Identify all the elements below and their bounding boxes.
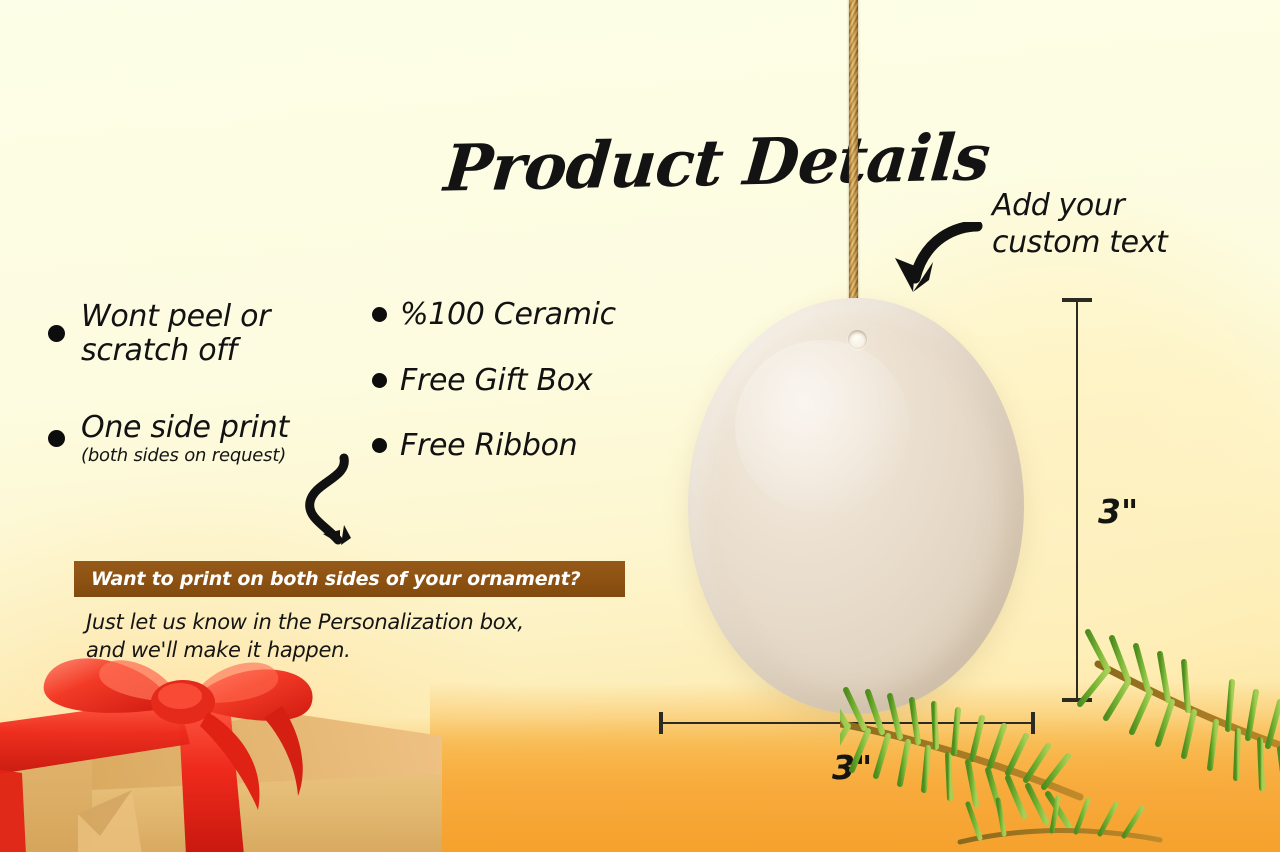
feature-label: Free Ribbon <box>400 429 577 463</box>
feature-sublabel: (both sides on request) <box>81 446 289 466</box>
feature-label: Free Gift Box <box>400 364 592 398</box>
list-item: One side print (both sides on request) <box>48 411 378 466</box>
bullet-dot-icon <box>372 307 387 322</box>
page-title: Product Details <box>441 120 992 206</box>
feature-label: Wont peel or scratch off <box>81 300 270 367</box>
list-item: Free Gift Box <box>372 364 662 398</box>
both-sides-banner: Want to print on both sides of your orna… <box>74 561 625 597</box>
hanging-cord <box>849 0 858 346</box>
dimension-cap-top <box>1062 298 1092 302</box>
custom-text-callout: Add your custom text <box>992 188 1167 261</box>
product-details-infographic: Product Details Wont peel or scratch off… <box>0 0 1280 852</box>
feature-list-right: %100 Ceramic Free Gift Box Free Ribbon <box>372 298 662 495</box>
list-item: Wont peel or scratch off <box>48 300 378 367</box>
gift-box-image <box>0 640 452 852</box>
feature-label: %100 Ceramic <box>400 298 616 332</box>
dimension-cap-left <box>659 712 663 734</box>
feature-line-1: Wont peel or <box>81 299 270 334</box>
ornament-hole <box>848 330 867 349</box>
pine-branch-image <box>840 592 1280 852</box>
list-item: Free Ribbon <box>372 429 662 463</box>
feature-list-left: Wont peel or scratch off One side print … <box>48 300 378 510</box>
feature-line-2: scratch off <box>81 333 237 368</box>
callout-line-2: custom text <box>992 225 1167 262</box>
banner-note-line-1: Just let us know in the Personalization … <box>86 610 524 634</box>
bullet-dot-icon <box>372 438 387 453</box>
bullet-dot-icon <box>48 325 65 342</box>
list-item: %100 Ceramic <box>372 298 662 332</box>
feature-label: One side print (both sides on request) <box>81 411 289 466</box>
ornament-highlight <box>735 340 910 515</box>
feature-line-1: One side print <box>81 410 289 445</box>
bullet-dot-icon <box>48 430 65 447</box>
bullet-dot-icon <box>372 373 387 388</box>
banner-headline: Want to print on both sides of your orna… <box>91 568 580 590</box>
dimension-height-label: 3" <box>1098 492 1138 531</box>
callout-line-1: Add your <box>992 188 1167 225</box>
